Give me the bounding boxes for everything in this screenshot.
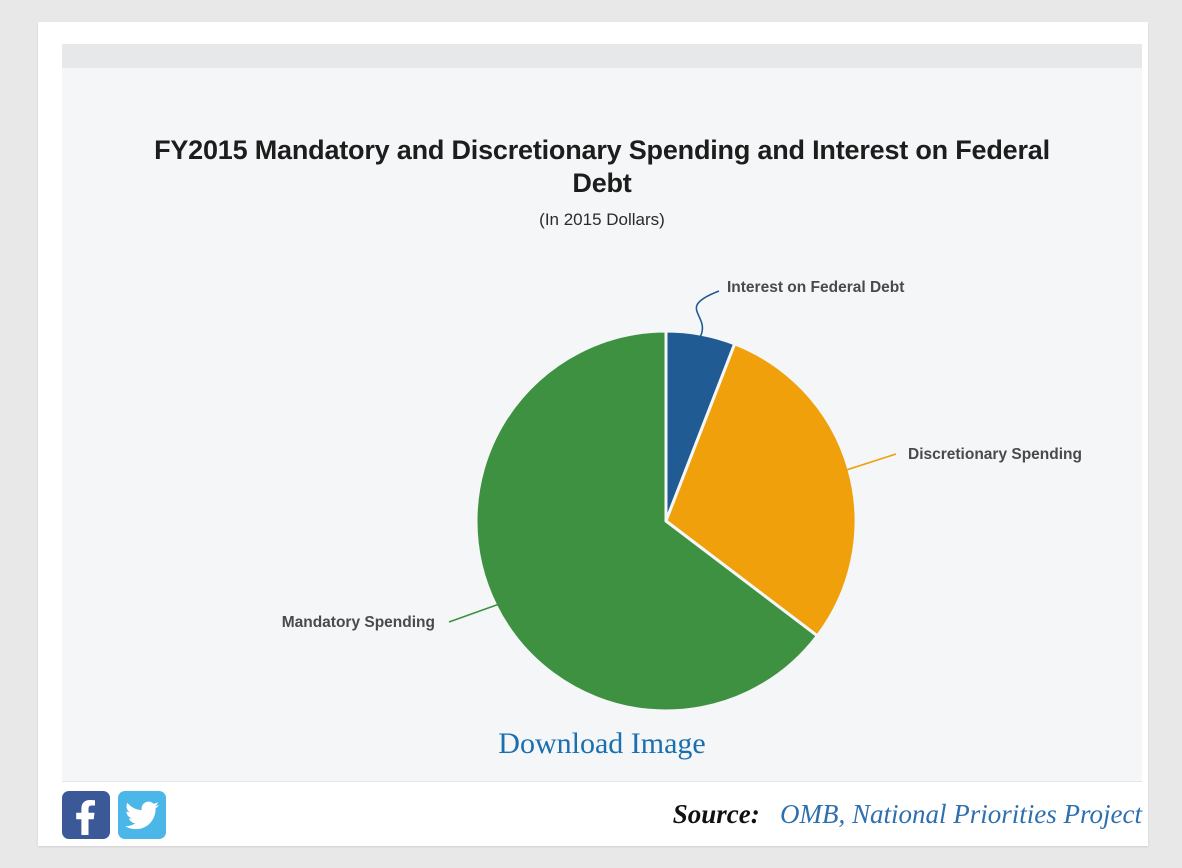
chart-card: FY2015 Mandatory and Discretionary Spend…: [38, 22, 1148, 846]
twitter-glyph: [118, 791, 166, 839]
pie-slice-label: Mandatory Spending: [282, 614, 435, 631]
pie-leader-line: [847, 454, 896, 470]
twitter-icon[interactable]: [118, 791, 166, 839]
pie-slice-label: Discretionary Spending: [908, 446, 1082, 463]
chart-panel: FY2015 Mandatory and Discretionary Spend…: [62, 44, 1142, 782]
source-line: Source: OMB, National Priorities Project: [673, 799, 1142, 830]
facebook-glyph: [62, 791, 110, 839]
pie-chart: Interest on Federal DebtDiscretionary Sp…: [62, 44, 1142, 781]
source-link-npp[interactable]: National Priorities Project: [852, 799, 1142, 829]
pie-slices: [476, 331, 856, 711]
pie-leader-line: [449, 605, 498, 622]
pie-slice-label: Interest on Federal Debt: [727, 279, 904, 296]
source-link-omb[interactable]: OMB: [780, 799, 838, 829]
source-label: Source:: [673, 799, 760, 829]
pie-chart-svg: Interest on Federal DebtDiscretionary Sp…: [62, 44, 1142, 781]
download-image-link[interactable]: Download Image: [62, 727, 1142, 761]
chart-footer: Source: OMB, National Priorities Project: [62, 791, 1142, 843]
pie-leader-line: [696, 291, 719, 336]
source-separator: ,: [839, 799, 853, 829]
facebook-icon[interactable]: [62, 791, 110, 839]
